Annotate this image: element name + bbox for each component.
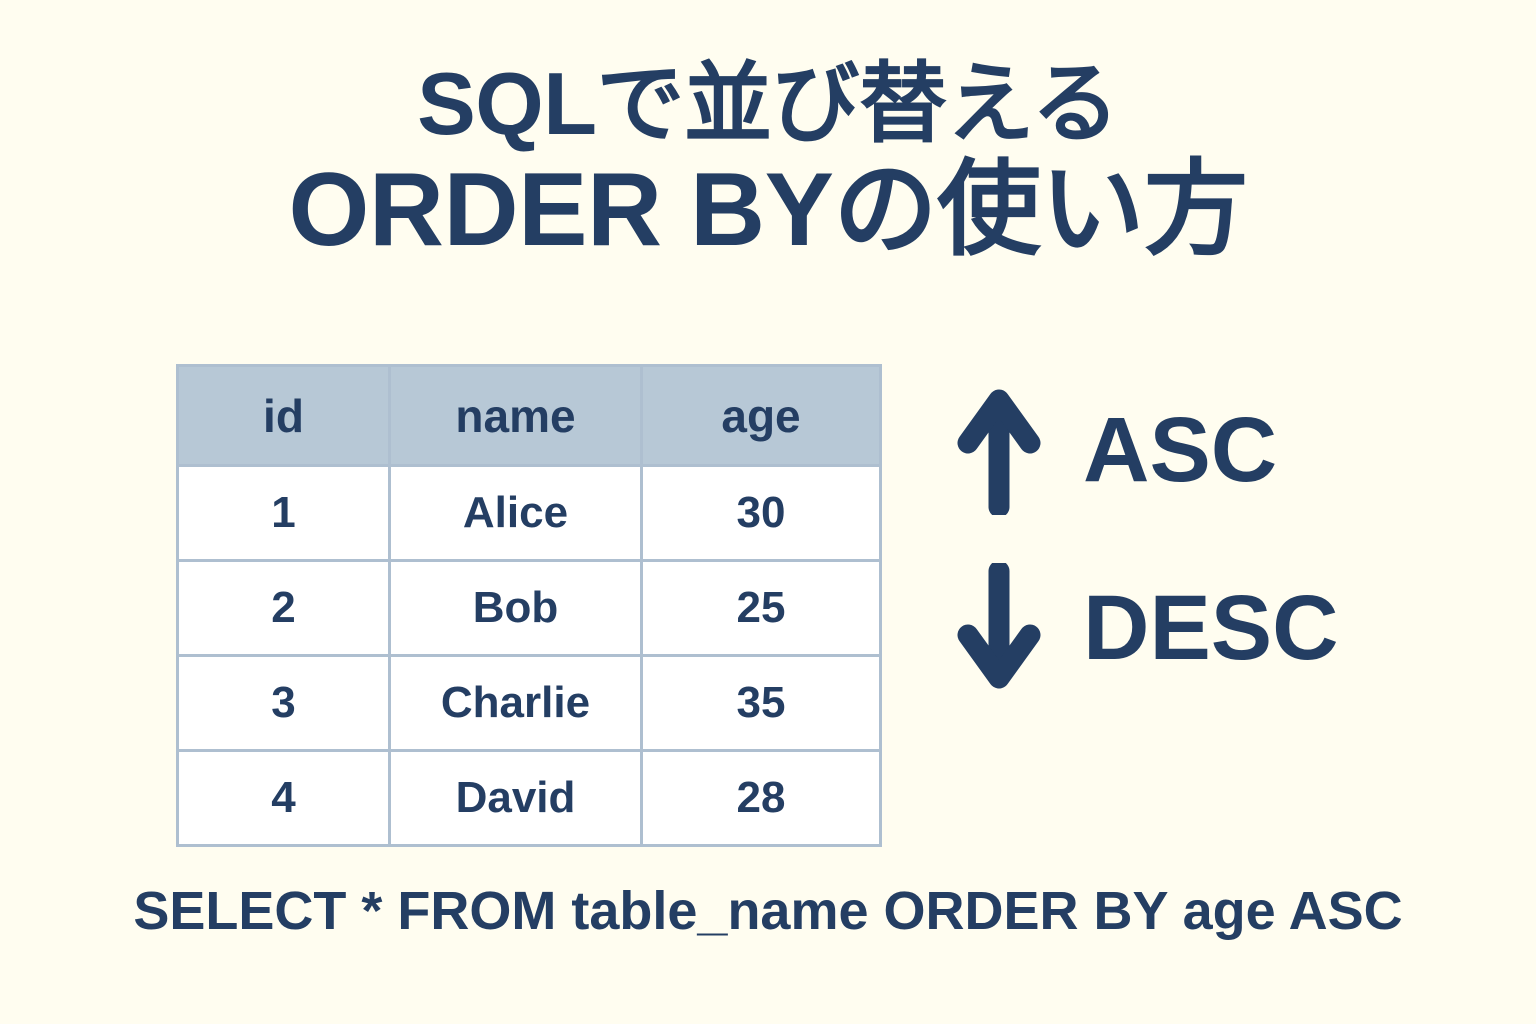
table-row: 2 Bob 25 <box>178 561 881 656</box>
cell-name: David <box>390 751 642 846</box>
arrow-down-icon <box>955 563 1043 693</box>
cell-name: Bob <box>390 561 642 656</box>
page-title: SQLで並び替える ORDER BYの使い方 <box>0 58 1536 264</box>
table-row: 4 David 28 <box>178 751 881 846</box>
cell-id: 4 <box>178 751 390 846</box>
cell-id: 2 <box>178 561 390 656</box>
sort-direction-legend: ASC DESC <box>955 385 1375 693</box>
sample-data-table: id name age 1 Alice 30 2 Bob 25 3 Charli… <box>176 364 882 847</box>
sort-legend-label-desc: DESC <box>1083 582 1339 674</box>
cell-age: 35 <box>642 656 881 751</box>
table-header-row: id name age <box>178 366 881 466</box>
table-row: 1 Alice 30 <box>178 466 881 561</box>
title-line-secondary: ORDER BYの使い方 <box>0 156 1536 264</box>
cell-id: 3 <box>178 656 390 751</box>
table-row: 3 Charlie 35 <box>178 656 881 751</box>
column-header-name: name <box>390 366 642 466</box>
cell-name: Charlie <box>390 656 642 751</box>
sort-legend-label-asc: ASC <box>1083 404 1277 496</box>
cell-id: 1 <box>178 466 390 561</box>
sort-legend-item-asc: ASC <box>955 385 1375 515</box>
sql-statement-text: SELECT * FROM table_name ORDER BY age AS… <box>0 880 1536 942</box>
cell-age: 30 <box>642 466 881 561</box>
column-header-age: age <box>642 366 881 466</box>
cell-age: 25 <box>642 561 881 656</box>
cell-name: Alice <box>390 466 642 561</box>
title-line-primary: SQLで並び替える <box>0 58 1536 150</box>
column-header-id: id <box>178 366 390 466</box>
cell-age: 28 <box>642 751 881 846</box>
arrow-up-icon <box>955 385 1043 515</box>
sort-legend-item-desc: DESC <box>955 563 1375 693</box>
